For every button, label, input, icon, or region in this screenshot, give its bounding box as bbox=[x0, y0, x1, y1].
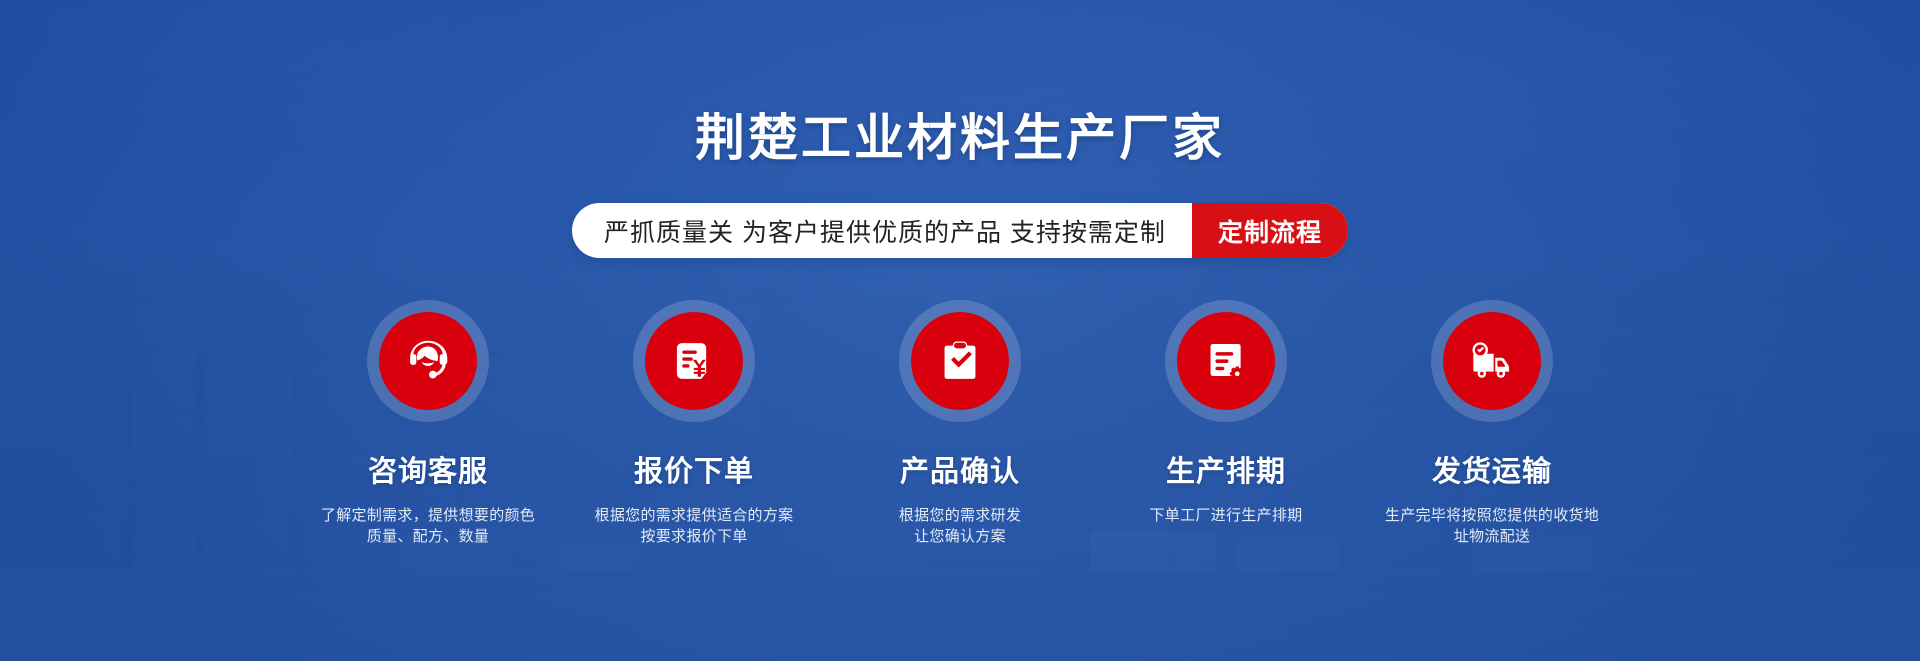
custom-process-button[interactable]: 定制流程 bbox=[1192, 203, 1348, 258]
step-icon-circle bbox=[1443, 312, 1541, 410]
process-step-schedule[interactable]: 生产排期 下单工厂进行生产排期 bbox=[1093, 300, 1359, 526]
step-label: 产品确认 bbox=[900, 448, 1020, 490]
process-step-quote[interactable]: 报价下单 根据您的需求提供适合的方案 按要求报价下单 bbox=[561, 300, 827, 548]
process-step-confirm[interactable]: 产品确认 根据您的需求研发 让您确认方案 bbox=[827, 300, 1093, 548]
step-description-line: 让您确认方案 bbox=[899, 526, 1021, 547]
step-description: 下单工厂进行生产排期 bbox=[1149, 505, 1302, 526]
step-description: 根据您的需求研发 让您确认方案 bbox=[899, 505, 1021, 548]
step-description-line: 生产完毕将按照您提供的收货地 bbox=[1385, 505, 1599, 526]
step-description-line: 下单工厂进行生产排期 bbox=[1149, 505, 1302, 526]
subtitle-bar-wrapper: 严抓质量关 为客户提供优质的产品 支持按需定制 定制流程 bbox=[0, 203, 1920, 258]
step-label: 发货运输 bbox=[1432, 448, 1552, 490]
step-description: 根据您的需求提供适合的方案 按要求报价下单 bbox=[595, 505, 794, 548]
step-description: 了解定制需求，提供想要的颜色 质量、配方、数量 bbox=[321, 505, 535, 548]
step-description-line: 址物流配送 bbox=[1385, 526, 1599, 547]
step-icon-circle bbox=[1177, 312, 1275, 410]
step-label: 报价下单 bbox=[634, 448, 754, 490]
step-icon-circle bbox=[645, 312, 743, 410]
step-description-line: 了解定制需求，提供想要的颜色 bbox=[321, 505, 535, 526]
process-steps: 咨询客服 了解定制需求，提供想要的颜色 质量、配方、数量 bbox=[0, 300, 1920, 548]
process-step-delivery[interactable]: 发货运输 生产完毕将按照您提供的收货地 址物流配送 bbox=[1359, 300, 1625, 548]
step-icon-ring bbox=[633, 300, 755, 422]
promo-banner: 荆楚工业材料生产厂家 严抓质量关 为客户提供优质的产品 支持按需定制 定制流程 bbox=[0, 0, 1920, 661]
step-label: 生产排期 bbox=[1166, 448, 1286, 490]
step-description-line: 根据您的需求研发 bbox=[899, 505, 1021, 526]
step-description-line: 根据您的需求提供适合的方案 bbox=[595, 505, 794, 526]
page-title: 荆楚工业材料生产厂家 bbox=[0, 98, 1920, 170]
step-icon-ring bbox=[1431, 300, 1553, 422]
step-description-line: 质量、配方、数量 bbox=[321, 526, 535, 547]
subtitle-bar: 严抓质量关 为客户提供优质的产品 支持按需定制 定制流程 bbox=[572, 203, 1348, 258]
clipboard-check-icon bbox=[934, 335, 986, 387]
step-label: 咨询客服 bbox=[368, 448, 488, 490]
step-description: 生产完毕将按照您提供的收货地 址物流配送 bbox=[1385, 505, 1599, 548]
banner-content: 荆楚工业材料生产厂家 严抓质量关 为客户提供优质的产品 支持按需定制 定制流程 bbox=[0, 0, 1920, 661]
step-icon-ring bbox=[367, 300, 489, 422]
step-description-line: 按要求报价下单 bbox=[595, 526, 794, 547]
process-step-consult[interactable]: 咨询客服 了解定制需求，提供想要的颜色 质量、配方、数量 bbox=[295, 300, 561, 548]
step-icon-circle bbox=[911, 312, 1009, 410]
step-icon-ring bbox=[1165, 300, 1287, 422]
step-icon-ring bbox=[899, 300, 1021, 422]
delivery-truck-check-icon bbox=[1466, 335, 1518, 387]
headset-support-icon bbox=[402, 335, 454, 387]
invoice-yuan-icon bbox=[668, 335, 720, 387]
subtitle-text: 严抓质量关 为客户提供优质的产品 支持按需定制 bbox=[572, 203, 1192, 258]
document-gear-icon bbox=[1200, 335, 1252, 387]
step-icon-circle bbox=[379, 312, 477, 410]
